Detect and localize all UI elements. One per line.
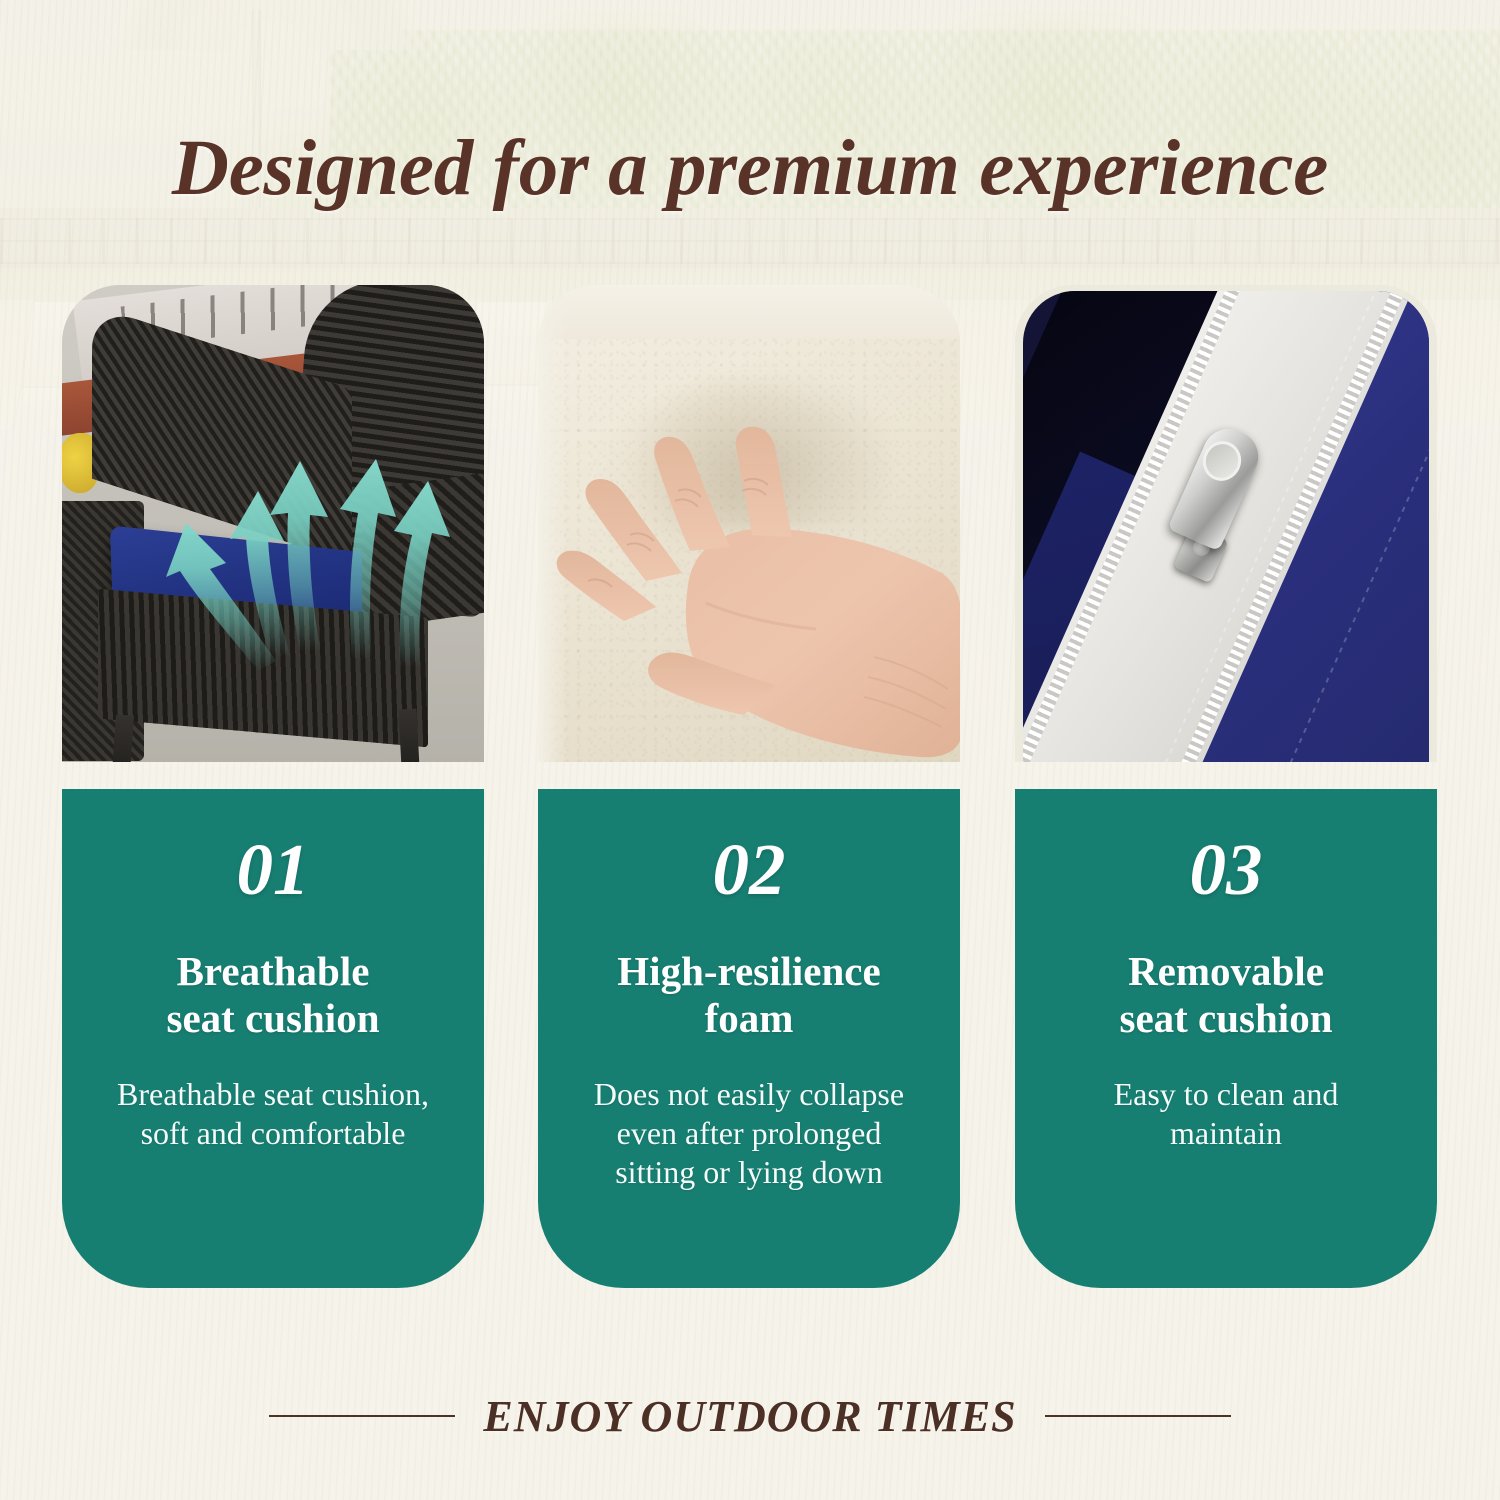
- divider-line-left: [269, 1415, 455, 1417]
- feature-title: Removable seat cushion: [1037, 948, 1415, 1041]
- footer-tagline: ENJOY OUTDOOR TIMES: [483, 1391, 1016, 1442]
- feature-cards: 01 Breathable seat cushion Breathable se…: [0, 0, 1500, 1500]
- feature-panel-2: 02 High-resilience foam Does not easily …: [538, 789, 960, 1288]
- feature-number: 03: [1037, 833, 1415, 906]
- feature-number: 02: [560, 833, 938, 906]
- photo-high-resilience-foam: [538, 285, 960, 762]
- hand-pressing-icon: [538, 285, 960, 762]
- feature-title: Breathable seat cushion: [84, 948, 462, 1041]
- feature-card-1: [62, 285, 484, 762]
- feature-body: Breathable seat cushion, soft and comfor…: [84, 1075, 462, 1152]
- feature-body: Does not easily collapse even after prol…: [560, 1075, 938, 1191]
- photo-removable-cushion-zipper: [1015, 285, 1437, 762]
- photo-breathable-cushion: [62, 285, 484, 762]
- feature-panel-1: 01 Breathable seat cushion Breathable se…: [62, 789, 484, 1288]
- airflow-arrows-icon: [62, 285, 484, 762]
- feature-title: High-resilience foam: [560, 948, 938, 1041]
- page-title: Designed for a premium experience: [0, 124, 1500, 214]
- feature-number: 01: [84, 833, 462, 906]
- feature-card-2: [538, 285, 960, 762]
- feature-panel-3: 03 Removable seat cushion Easy to clean …: [1015, 789, 1437, 1288]
- feature-body: Easy to clean and maintain: [1037, 1075, 1415, 1152]
- divider-line-right: [1045, 1415, 1231, 1417]
- feature-card-3: [1015, 285, 1437, 762]
- footer-tagline-row: ENJOY OUTDOOR TIMES: [0, 1386, 1500, 1446]
- photo3-frame: [1023, 291, 1429, 762]
